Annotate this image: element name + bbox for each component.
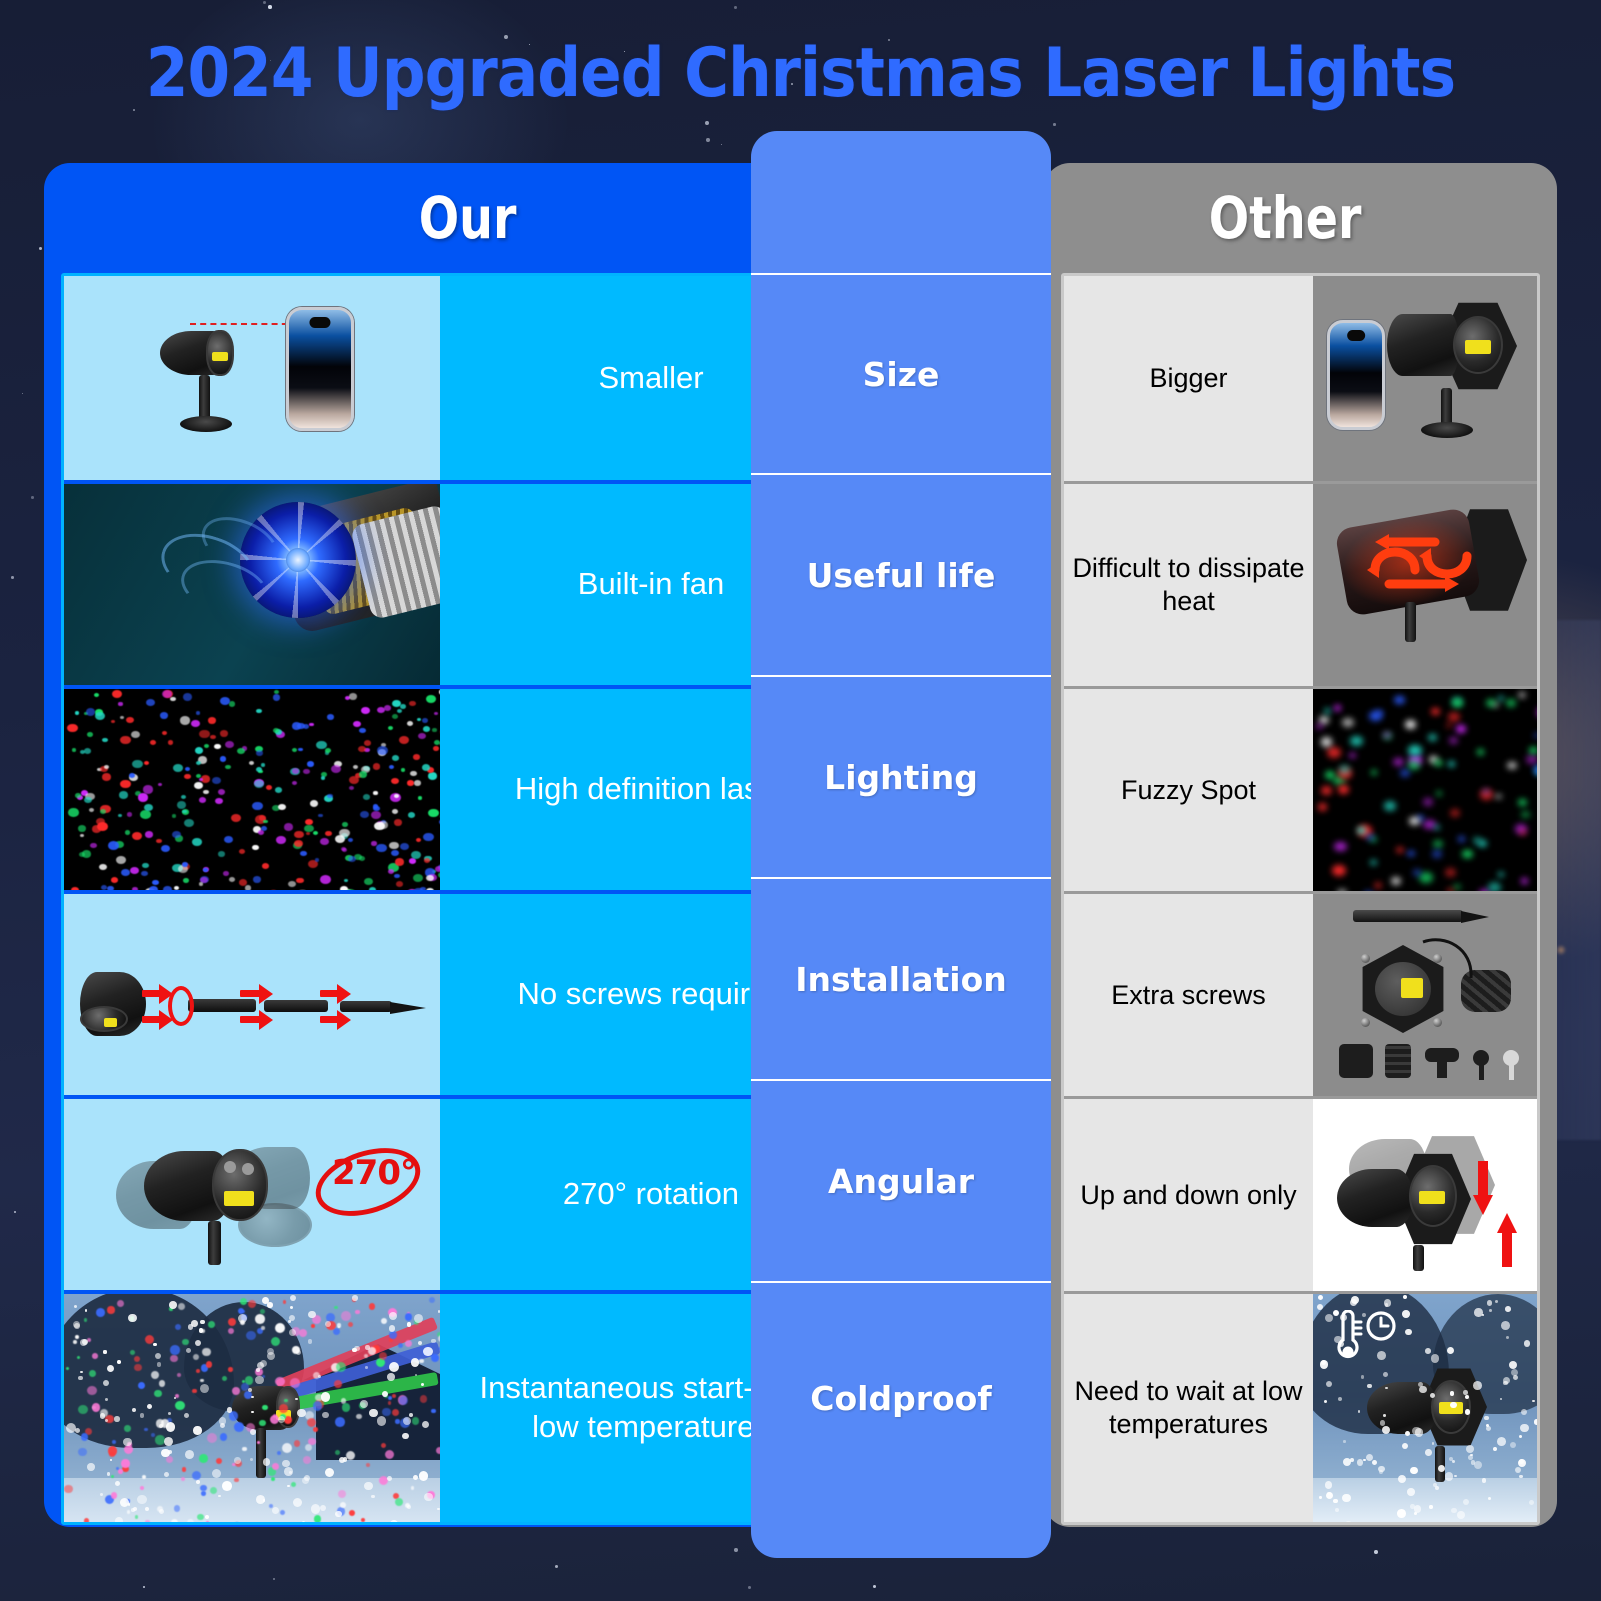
up-down-arrows	[1473, 1159, 1525, 1269]
other-image-projector-up-down-only-arrows	[1313, 1099, 1537, 1291]
feature-name-row: Coldproof	[751, 1281, 1051, 1513]
other-rows-container: Bigger Difficult to dissipate heat	[1061, 273, 1540, 1525]
our-feature-row: Built-in fan	[64, 484, 862, 689]
other-feature-row: Fuzzy Spot	[1064, 689, 1537, 894]
our-feature-row: Instantaneous start-up at low temperatur…	[64, 1294, 862, 1522]
other-image-projector-with-red-heat-arrows	[1313, 484, 1537, 686]
other-card-header: Other	[1044, 163, 1557, 273]
our-rows-container: Smaller Built-in fanHigh definition lase…	[61, 273, 865, 1525]
other-image-snowy-scene-thermometer-clock	[1313, 1294, 1537, 1522]
page-title: 2024 Upgraded Christmas Laser Lights	[80, 34, 1521, 113]
blurry-laser-dot-field	[1313, 689, 1537, 891]
other-feature-value: Bigger	[1064, 276, 1313, 481]
other-feature-row: Bigger	[1064, 276, 1537, 484]
feature-rows-container: SizeUseful lifeLightingInstallationAngul…	[751, 273, 1051, 1513]
feature-name-label: Installation	[789, 960, 1013, 999]
other-feature-value: Need to wait at low temperatures	[1064, 1294, 1313, 1522]
other-image-large-projector-next-to-phone	[1313, 276, 1537, 481]
our-image-projector-270-degree-rotation: 270°	[64, 1099, 440, 1290]
our-feature-row: No screws required	[64, 894, 862, 1099]
other-image-disassembled-parts-with-screws	[1313, 894, 1537, 1096]
rotation-badge: 270°	[332, 1153, 416, 1193]
other-feature-value: Difficult to dissipate heat	[1064, 484, 1313, 686]
our-header-label: Our	[419, 184, 517, 252]
snowflakes	[64, 1294, 440, 1522]
feature-name-row: Installation	[751, 877, 1051, 1079]
feature-name-label: Size	[857, 355, 946, 394]
other-feature-value: Up and down only	[1064, 1099, 1313, 1291]
our-feature-row: 270°270° rotation	[64, 1099, 862, 1294]
feature-name-row: Size	[751, 273, 1051, 473]
snowflakes	[1313, 1294, 1537, 1522]
our-image-glowing-blue-cooling-fan-cutaway	[64, 484, 440, 685]
heat-circulation-arrows	[1349, 530, 1489, 596]
other-feature-row: Difficult to dissipate heat	[1064, 484, 1537, 689]
our-image-sharp-multicolor-laser-dots	[64, 689, 440, 890]
our-image-snowy-house-with-laser-beams	[64, 1294, 440, 1522]
other-feature-row: Extra screws	[1064, 894, 1537, 1099]
other-feature-row: Up and down only	[1064, 1099, 1537, 1294]
other-feature-row: Need to wait at low temperatures	[1064, 1294, 1537, 1522]
other-image-blurry-multicolor-laser-dots	[1313, 689, 1537, 891]
feature-name-label: Coldproof	[804, 1379, 997, 1418]
feature-name-card: SizeUseful lifeLightingInstallationAngul…	[751, 131, 1051, 1558]
feature-name-row: Angular	[751, 1079, 1051, 1281]
feature-name-row: Useful life	[751, 473, 1051, 675]
feature-name-label: Lighting	[818, 758, 984, 797]
our-feature-row: Smaller	[64, 276, 862, 484]
other-feature-value: Extra screws	[1064, 894, 1313, 1096]
other-feature-value: Fuzzy Spot	[1064, 689, 1313, 891]
feature-name-label: Angular	[822, 1162, 980, 1201]
our-image-projector-next-to-phone-size-comparison	[64, 276, 440, 480]
other-product-card: Other Bigger Difficult to dissipate heat	[1044, 163, 1557, 1527]
our-feature-row: High definition laser	[64, 689, 862, 894]
sharp-laser-dot-field	[64, 689, 440, 890]
our-image-projector-with-snap-on-stake-arrows	[64, 894, 440, 1095]
power-cord	[1421, 938, 1481, 982]
feature-name-row: Lighting	[751, 675, 1051, 877]
feature-name-label: Useful life	[801, 556, 1002, 595]
other-header-label: Other	[1209, 184, 1362, 252]
